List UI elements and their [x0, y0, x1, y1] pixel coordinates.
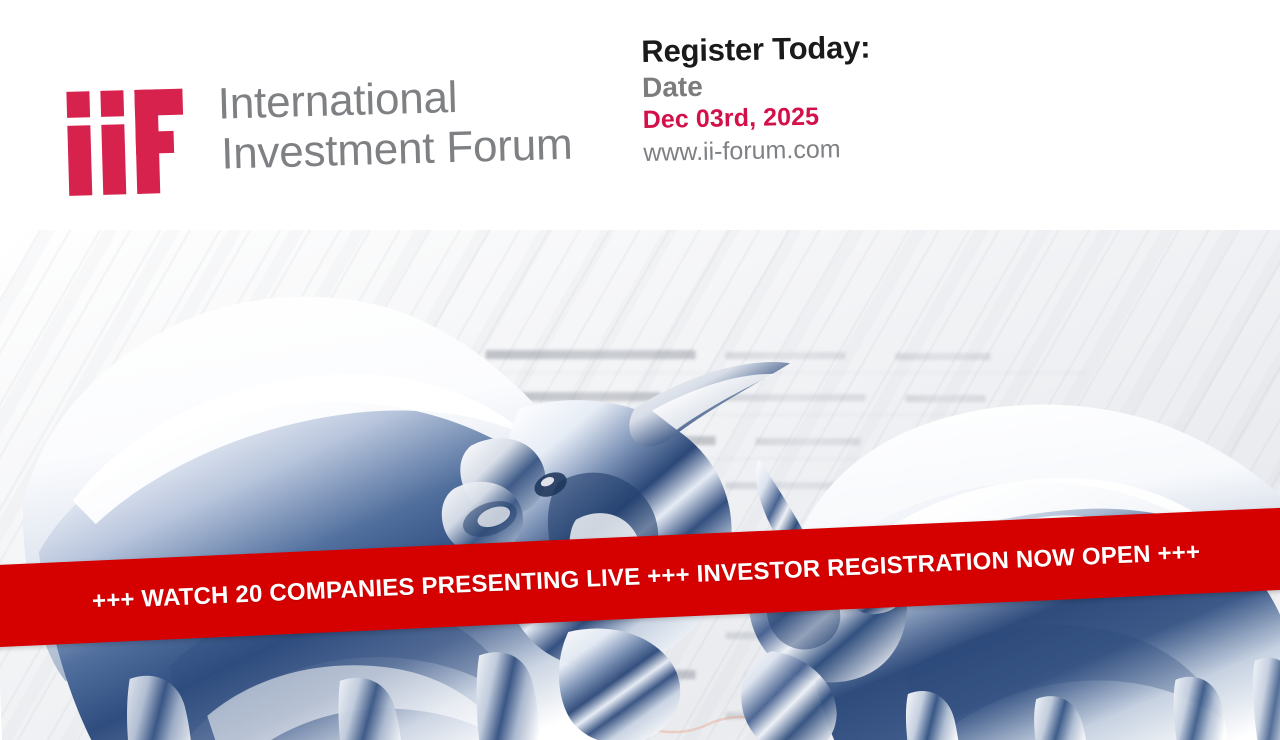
- logo-wordmark: International Investment Forum: [217, 70, 573, 180]
- date-label: Date: [642, 67, 872, 105]
- event-date: Dec 03rd, 2025: [642, 101, 872, 136]
- website-link[interactable]: www.ii-forum.com: [643, 132, 873, 170]
- register-block: Register Today: Date Dec 03rd, 2025 www.…: [641, 29, 873, 170]
- chrome-bull-large: [0, 223, 814, 740]
- header-band: International Investment Forum Register …: [0, 0, 1280, 230]
- logo-line-2: Investment Forum: [219, 120, 574, 180]
- register-title: Register Today:: [641, 29, 871, 71]
- hero-image-panel: [0, 173, 1280, 740]
- iif-logo[interactable]: International Investment Forum: [62, 62, 625, 203]
- hero-photo: [0, 173, 1280, 740]
- iif-logomark-icon: [62, 74, 195, 196]
- promo-banner-canvas: International Investment Forum Register …: [0, 0, 1280, 740]
